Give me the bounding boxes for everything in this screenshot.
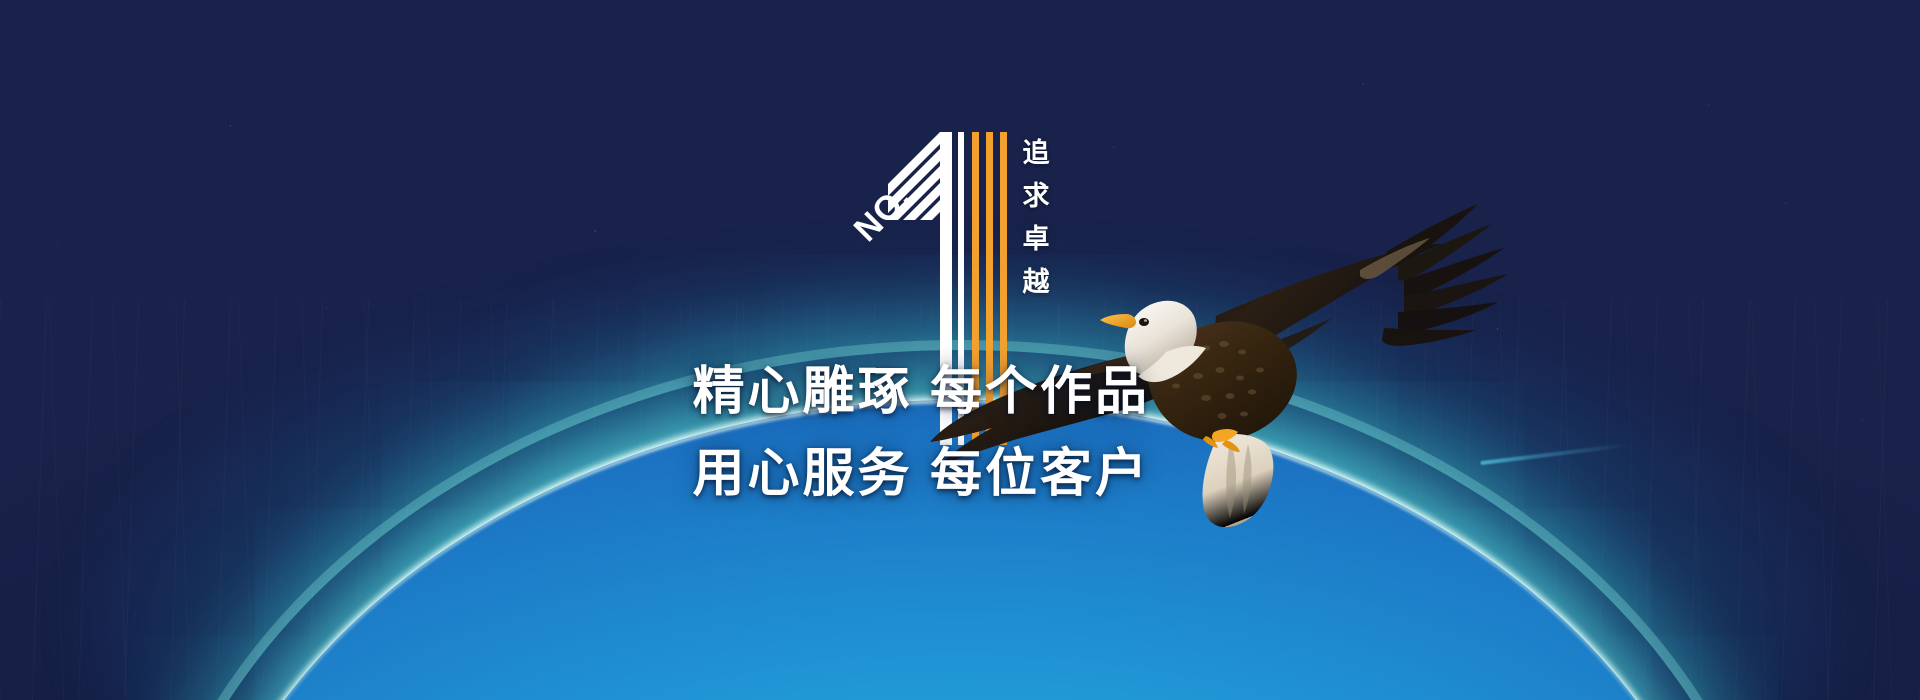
vertical-slogan-char-1: 追 (1023, 140, 1050, 167)
vertical-slogan: 追 求 卓 越 (1012, 140, 1060, 296)
eagle-right-secondaries (1210, 318, 1332, 386)
eagle-talons (1203, 429, 1240, 452)
vertical-slogan-char-2: 求 (1023, 183, 1050, 210)
eagle-body-texture (1172, 341, 1264, 419)
headline-line-2: 用心服务 每位客户 (0, 448, 1150, 500)
hero-banner: NO. (0, 0, 1920, 700)
vertical-slogan-char-4: 越 (1023, 269, 1050, 296)
eagle-beak (1100, 314, 1136, 328)
eagle-body (1148, 321, 1297, 441)
headline: 精心雕琢 每个作品 用心服务 每位客户 (0, 366, 1150, 500)
eagle-eye (1139, 318, 1149, 326)
headline-line-1: 精心雕琢 每个作品 (0, 366, 1150, 418)
eagle-right-wing (1212, 204, 1508, 364)
shooting-star-icon (1480, 443, 1629, 465)
vertical-slogan-char-3: 卓 (1023, 226, 1050, 253)
eagle-tail (1203, 434, 1274, 527)
eagle-tail-shadow (1226, 440, 1251, 518)
